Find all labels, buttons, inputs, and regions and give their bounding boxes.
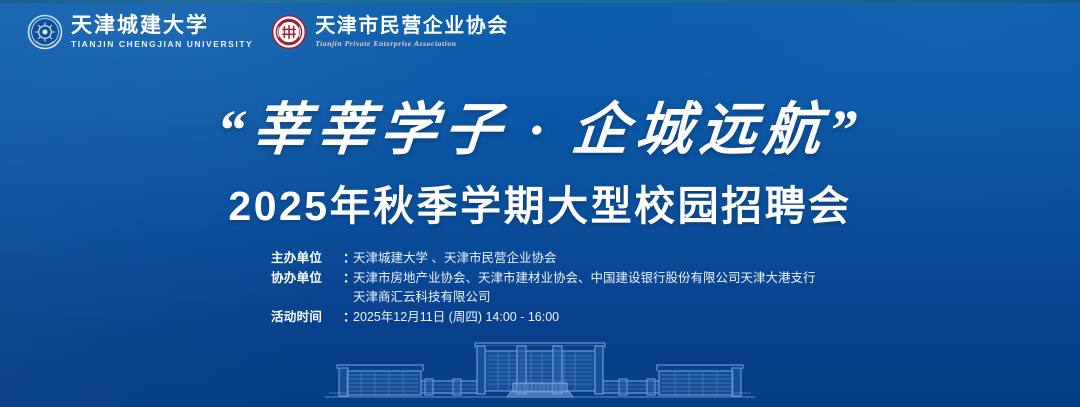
top-accent-strip (0, 0, 1080, 3)
host-colon: ： (343, 249, 353, 269)
main-title-calligraphy: “莘莘学子 · 企城远航” (213, 84, 867, 166)
university-name-en: TIANJIN CHENGJIAN UNIVERSITY (71, 40, 253, 49)
coorganizer-label: 协办单位 (271, 269, 343, 289)
campus-building-line-art (325, 335, 755, 407)
association-seal-icon (271, 14, 307, 50)
association-logo: 天津市民营企业协会 Tianjin Private Enterprise Ass… (271, 14, 509, 50)
university-name-cn: 天津城建大学 (71, 15, 253, 36)
coorganizer-value-line2: 天津商汇云科技有限公司 (353, 288, 816, 308)
event-info-block: 主办单位 ： 天津城建大学 、天津市民营企业协会 协办单位 ： 天津市房地产业协… (271, 249, 816, 327)
coorganizer-colon: ： (343, 269, 353, 289)
time-value: 2025年12月11日 (周四) 14:00 - 16:00 (353, 308, 816, 328)
coorganizer-value: 天津市房地产业协会、天津市建材业协会、中国建设银行股份有限公司天津大港支行 (353, 269, 816, 289)
host-label: 主办单位 (271, 249, 343, 269)
university-seal-icon (27, 14, 63, 50)
info-row-coorganizer-line2: 协办单位 ： 天津商汇云科技有限公司 (271, 288, 816, 308)
university-logo: 天津城建大学 TIANJIN CHENGJIAN UNIVERSITY (27, 14, 253, 50)
subtitle: 2025年秋季学期大型校园招聘会 (0, 172, 1080, 232)
recruitment-fair-banner: 天津城建大学 TIANJIN CHENGJIAN UNIVERSITY (0, 0, 1080, 407)
info-row-host: 主办单位 ： 天津城建大学 、天津市民营企业协会 (271, 249, 816, 269)
logo-row: 天津城建大学 TIANJIN CHENGJIAN UNIVERSITY (27, 14, 509, 50)
association-name-en: Tianjin Private Enterprise Association (315, 40, 509, 48)
host-value: 天津城建大学 、天津市民营企业协会 (353, 249, 816, 269)
association-name-cn: 天津市民营企业协会 (315, 16, 509, 36)
info-row-coorganizer: 协办单位 ： 天津市房地产业协会、天津市建材业协会、中国建设银行股份有限公司天津… (271, 269, 816, 289)
time-label: 活动时间 (271, 308, 343, 328)
info-row-time: 活动时间 ： 2025年12月11日 (周四) 14:00 - 16:00 (271, 308, 816, 328)
main-title-wrap: “莘莘学子 · 企城远航” (0, 84, 1080, 166)
time-colon: ： (343, 308, 353, 328)
